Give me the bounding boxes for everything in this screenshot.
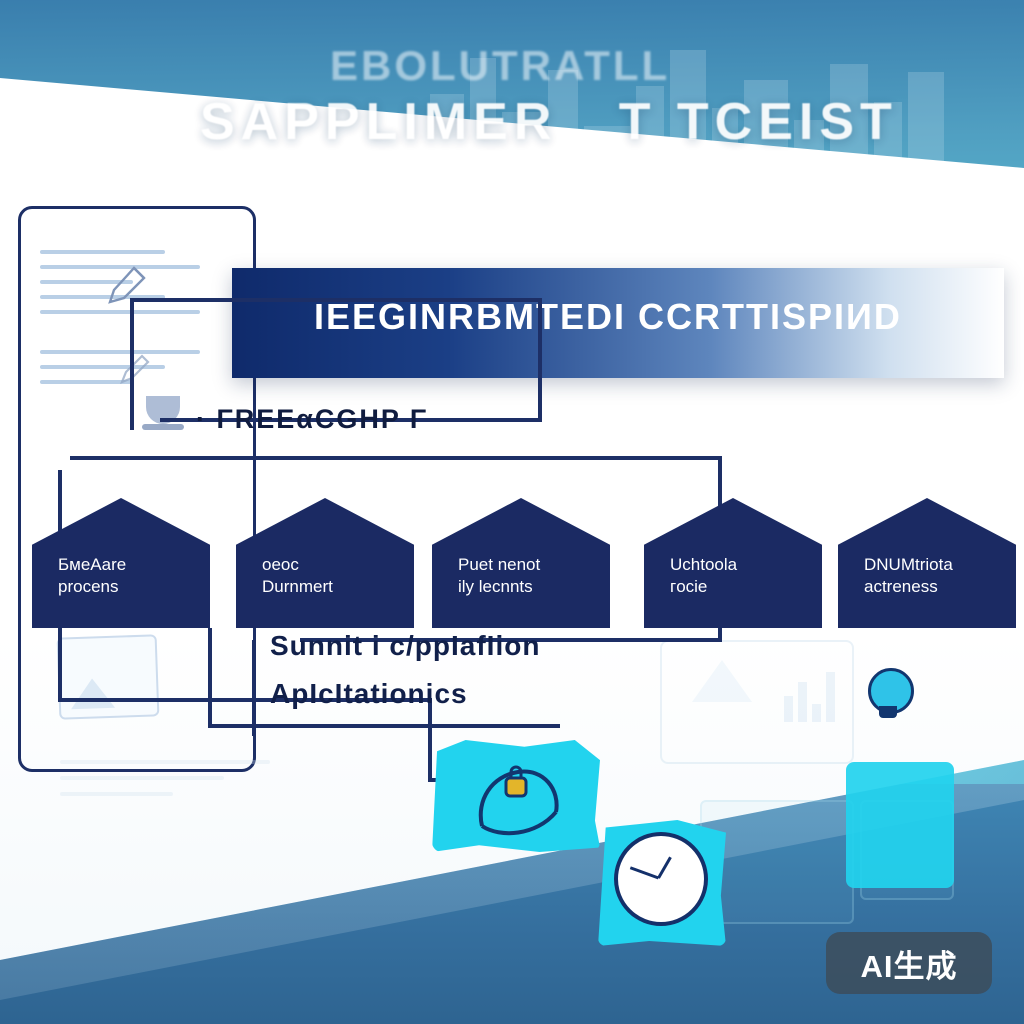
clock-icon bbox=[614, 832, 706, 924]
highlight-blob-right bbox=[846, 762, 954, 888]
flow-node-2-line1: oeoc bbox=[262, 555, 299, 574]
detail-card-line1: Sunnit i c/ppIafIion bbox=[270, 630, 540, 662]
detail-card: Sunnit i c/ppIafIion ApIcItationics bbox=[262, 630, 622, 748]
bulb-icon bbox=[860, 668, 916, 728]
flow-node-4-line2: гocie bbox=[670, 577, 707, 596]
flow-node-5-line1: DNUMtriota bbox=[864, 555, 953, 574]
flow-node-5-line2: actreness bbox=[864, 577, 938, 596]
stage-label: · ΓREEαCGHP Γ bbox=[196, 404, 428, 435]
flow-node-3-line2: ily lecnnts bbox=[458, 577, 533, 596]
detail-card-line2: ApIcItationics bbox=[270, 678, 468, 710]
flow-node-1-line2: procens bbox=[58, 577, 118, 596]
flow-node-3-line1: Puet nenot bbox=[458, 555, 540, 574]
flow-node-4-line1: Uchtoola bbox=[670, 555, 737, 574]
flow-node-2-line2: Durnmert bbox=[262, 577, 333, 596]
lock-icon bbox=[470, 756, 566, 842]
watermark-badge: AI生成 bbox=[826, 932, 992, 994]
diagram-canvas: EBOLUTRATLL SAPPLIMER T TCEIST IEEGINRBM… bbox=[0, 0, 1024, 1024]
watermark-text: AI生成 bbox=[861, 941, 958, 986]
flow-node-1-line1: БмeAare bbox=[58, 555, 126, 574]
